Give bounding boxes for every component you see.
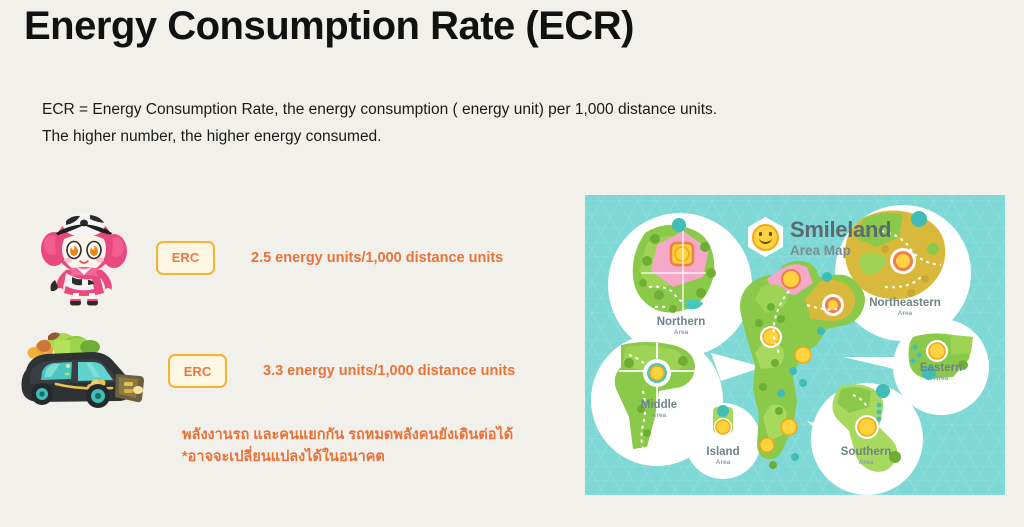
description-line-2: The higher number, the higher energy con… xyxy=(42,123,717,150)
loaded-car-illustration xyxy=(14,330,154,412)
region-label-eastern[interactable]: Eastern Area xyxy=(903,363,979,383)
thai-note-line-1: พลังงานรถ และคนแยกกัน รถหมดพลังคนยังเดิน… xyxy=(182,424,513,446)
description-block: ECR = Energy Consumption Rate, the energ… xyxy=(42,96,717,150)
map-title-sub: Area Map xyxy=(790,243,891,259)
map-title-group: Smileland Area Map xyxy=(748,217,891,259)
region-label-northern[interactable]: Northern Area xyxy=(640,317,722,337)
slide-canvas: Energy Consumption Rate (ECR) ECR = Ener… xyxy=(0,0,1024,527)
ecr-row-car: ERC 3.3 energy units/1,000 distance unit… xyxy=(14,330,515,412)
region-label-middle[interactable]: Middle Area xyxy=(621,400,697,420)
region-label-southern[interactable]: Southern Area xyxy=(823,447,909,467)
smiley-face-icon xyxy=(748,217,783,257)
erc-rate-car: 3.3 energy units/1,000 distance units xyxy=(263,363,515,379)
region-label-northeastern[interactable]: Northeastern Area xyxy=(853,298,957,318)
erc-badge-person: ERC xyxy=(156,241,215,275)
page-title: Energy Consumption Rate (ECR) xyxy=(24,4,634,49)
erc-badge-car: ERC xyxy=(168,354,227,388)
thai-note-block: พลังงานรถ และคนแยกกัน รถหมดพลังคนยังเดิน… xyxy=(182,424,513,469)
thai-note-line-2: *อาจจะเปลี่ยนแปลงได้ในอนาคต xyxy=(182,446,513,468)
region-label-island[interactable]: Island Area xyxy=(689,447,757,467)
ecr-row-person: ERC 2.5 energy units/1,000 distance unit… xyxy=(18,205,503,310)
girl-character-illustration xyxy=(18,205,150,310)
smileland-area-map: Smileland Area Map Northern Area Northea… xyxy=(585,195,1005,495)
map-title-main: Smileland xyxy=(790,219,891,241)
erc-rate-person: 2.5 energy units/1,000 distance units xyxy=(251,250,503,266)
description-line-1: ECR = Energy Consumption Rate, the energ… xyxy=(42,96,717,123)
